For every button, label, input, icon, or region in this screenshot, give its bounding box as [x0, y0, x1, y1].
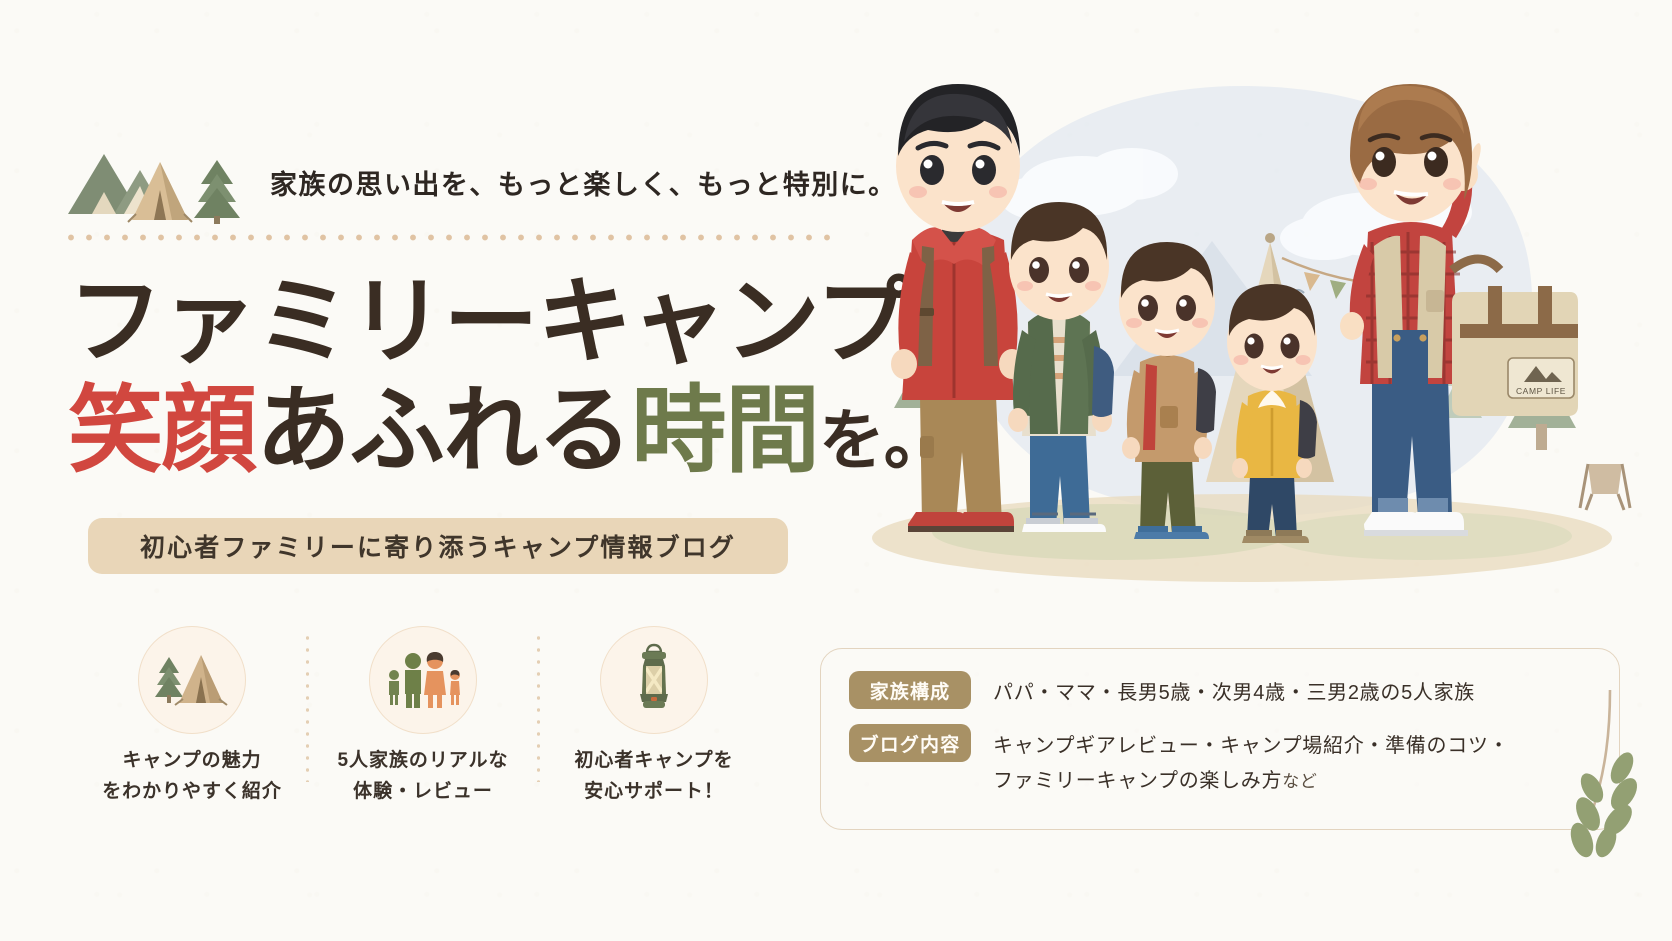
page-title: ファミリーキャンプで 笑顔あふれる時間を。: [68, 276, 868, 478]
feature-icon-wrap: [369, 626, 477, 734]
feature-icon-wrap: [600, 626, 708, 734]
info-text-blog-line1: キャンプギアレビュー・キャンプ場紹介・準備のコツ・: [993, 729, 1509, 763]
feature-icon-wrap: [138, 626, 246, 734]
left-content-column: 家族の思い出を、もっと楽しく、もっと特別に。 ファミリーキャンプで 笑顔あふれる…: [0, 0, 860, 941]
headline-jikan-text: 時間: [631, 378, 819, 484]
feature-list: キャンプの魅力 をわかりやすく紹介: [78, 626, 768, 812]
feature-label-line2: 安心サポート！: [574, 777, 733, 808]
info-card: 家族構成 パパ・ママ・長男5歳・次男4歳・三男2歳の5人家族 ブログ内容 キャン…: [820, 648, 1620, 830]
feature-label: 初心者キャンプを 安心サポート！: [574, 746, 733, 808]
camp-bag-label-text: CAMP LIFE: [1516, 386, 1566, 396]
tent-tree-icon: [153, 645, 231, 716]
dotted-divider: [62, 234, 832, 241]
family-camping-illustration: CAMP LIFE: [812, 46, 1672, 646]
headline-egao-text: 笑顔: [68, 378, 256, 484]
feature-label-line1: キャンプの魅力: [102, 746, 282, 777]
subtitle-text: 初心者ファミリーに寄り添うキャンプ情報ブログ: [140, 528, 736, 564]
feature-item-family-review: 5人家族のリアルな 体験・レビュー: [309, 626, 537, 808]
father-red-jacket: [891, 84, 1025, 532]
info-text-blog-tail: など: [1282, 772, 1317, 791]
info-badge-blog: ブログ内容: [849, 724, 971, 762]
feature-label-line1: 初心者キャンプを: [574, 746, 733, 777]
tagline-row: 家族の思い出を、もっと楽しく、もっと特別に。: [62, 136, 842, 228]
headline-afureru-text: あふれる: [256, 378, 631, 484]
subtitle-badge: 初心者ファミリーに寄り添うキャンプ情報ブログ: [88, 518, 788, 574]
mountain-tent-tree-icon: [62, 136, 252, 228]
family-group-icon: [382, 647, 464, 714]
info-text-blog-line2-main: ファミリーキャンプの楽しみ方: [993, 770, 1282, 792]
hero-section: 家族の思い出を、もっと楽しく、もっと特別に。 ファミリーキャンプで 笑顔あふれる…: [0, 0, 1672, 941]
info-row-family: 家族構成 パパ・ママ・長男5歳・次男4歳・三男2歳の5人家族: [849, 671, 1593, 710]
headline-line-1: ファミリーキャンプで: [68, 276, 868, 369]
info-text-blog-line2: ファミリーキャンプの楽しみ方など: [993, 764, 1509, 798]
info-badge-family: 家族構成: [849, 671, 971, 709]
headline-main-text: ファミリーキャンプ: [68, 269, 910, 375]
info-row-blog: ブログ内容 キャンプギアレビュー・キャンプ場紹介・準備のコツ・ ファミリーキャン…: [849, 724, 1593, 798]
tagline-text: 家族の思い出を、もっと楽しく、もっと特別に。: [270, 163, 897, 202]
feature-item-camp-appeal: キャンプの魅力 をわかりやすく紹介: [78, 626, 306, 808]
info-text-blog: キャンプギアレビュー・キャンプ場紹介・準備のコツ・ ファミリーキャンプの楽しみ方…: [993, 724, 1509, 798]
camp-chair: [1580, 464, 1630, 510]
lantern-icon: [627, 642, 681, 719]
info-text-family-line1: パパ・ママ・長男5歳・次男4歳・三男2歳の5人家族: [993, 682, 1475, 704]
headline-line-2: 笑顔あふれる時間を。: [68, 385, 868, 478]
feature-label: キャンプの魅力 をわかりやすく紹介: [102, 746, 282, 808]
feature-label: 5人家族のリアルな 体験・レビュー: [338, 746, 509, 808]
info-text-family: パパ・ママ・長男5歳・次男4歳・三男2歳の5人家族: [993, 671, 1475, 710]
feature-label-line1: 5人家族のリアルな: [338, 746, 509, 777]
feature-label-line2: をわかりやすく紹介: [102, 777, 282, 808]
feature-label-line2: 体験・レビュー: [338, 777, 509, 808]
feature-item-beginner-support: 初心者キャンプを 安心サポート！: [540, 626, 768, 808]
